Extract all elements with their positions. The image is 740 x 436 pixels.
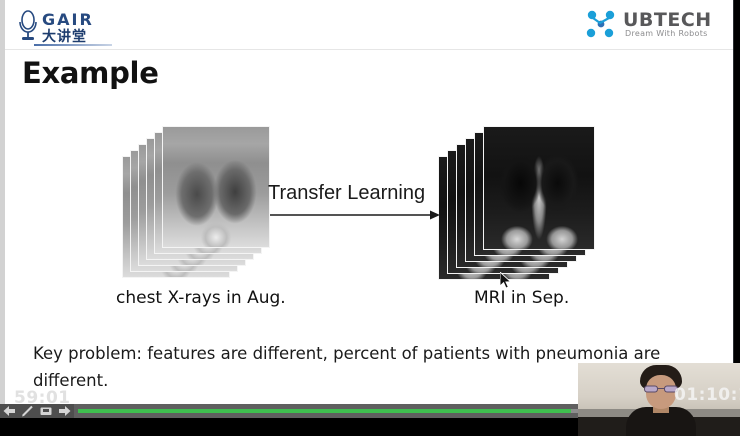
page-title: Example	[22, 56, 159, 90]
transfer-arrow-icon	[270, 210, 440, 220]
next-slide-icon[interactable]	[55, 405, 72, 418]
mri-stack	[438, 126, 598, 280]
webcam-pip[interactable]: 01:10:1	[578, 363, 740, 436]
caption-right-mri: MRI in Sep.	[474, 288, 569, 308]
transfer-learning-label: Transfer Learning	[268, 182, 425, 205]
gair-logo: GAIR 大讲堂	[14, 6, 114, 44]
header-divider	[5, 49, 733, 50]
microphone-icon	[16, 10, 40, 42]
ubtech-mark-icon	[585, 9, 617, 39]
pen-tool-icon[interactable]	[19, 405, 36, 418]
ubtech-logo: UBTECH Dream With Robots	[585, 7, 725, 43]
xray-sheet-front	[162, 126, 270, 248]
total-time-overlay: 01:10:1	[674, 385, 740, 405]
screen-root: GAIR 大讲堂 UBTECH Dream With Robots Exampl…	[0, 0, 740, 436]
ubtech-wordmark: UBTECH	[623, 9, 712, 31]
annotation-toolbar[interactable]	[0, 404, 74, 418]
chest-xray-stack	[122, 126, 272, 280]
eraser-tool-icon[interactable]	[37, 405, 54, 418]
slide-canvas: GAIR 大讲堂 UBTECH Dream With Robots Exampl…	[0, 0, 734, 404]
ubtech-tagline: Dream With Robots	[625, 29, 708, 38]
mri-sheet-front	[483, 126, 595, 250]
slide-right-border	[733, 0, 734, 404]
caption-left-xray: chest X-rays in Aug.	[116, 288, 286, 308]
slide-left-border	[0, 0, 5, 404]
gair-underline	[34, 44, 112, 46]
glasses-icon	[644, 385, 678, 393]
previous-slide-icon[interactable]	[1, 405, 18, 418]
progress-fill	[78, 409, 571, 413]
gair-chinese-subtitle: 大讲堂	[42, 26, 87, 46]
